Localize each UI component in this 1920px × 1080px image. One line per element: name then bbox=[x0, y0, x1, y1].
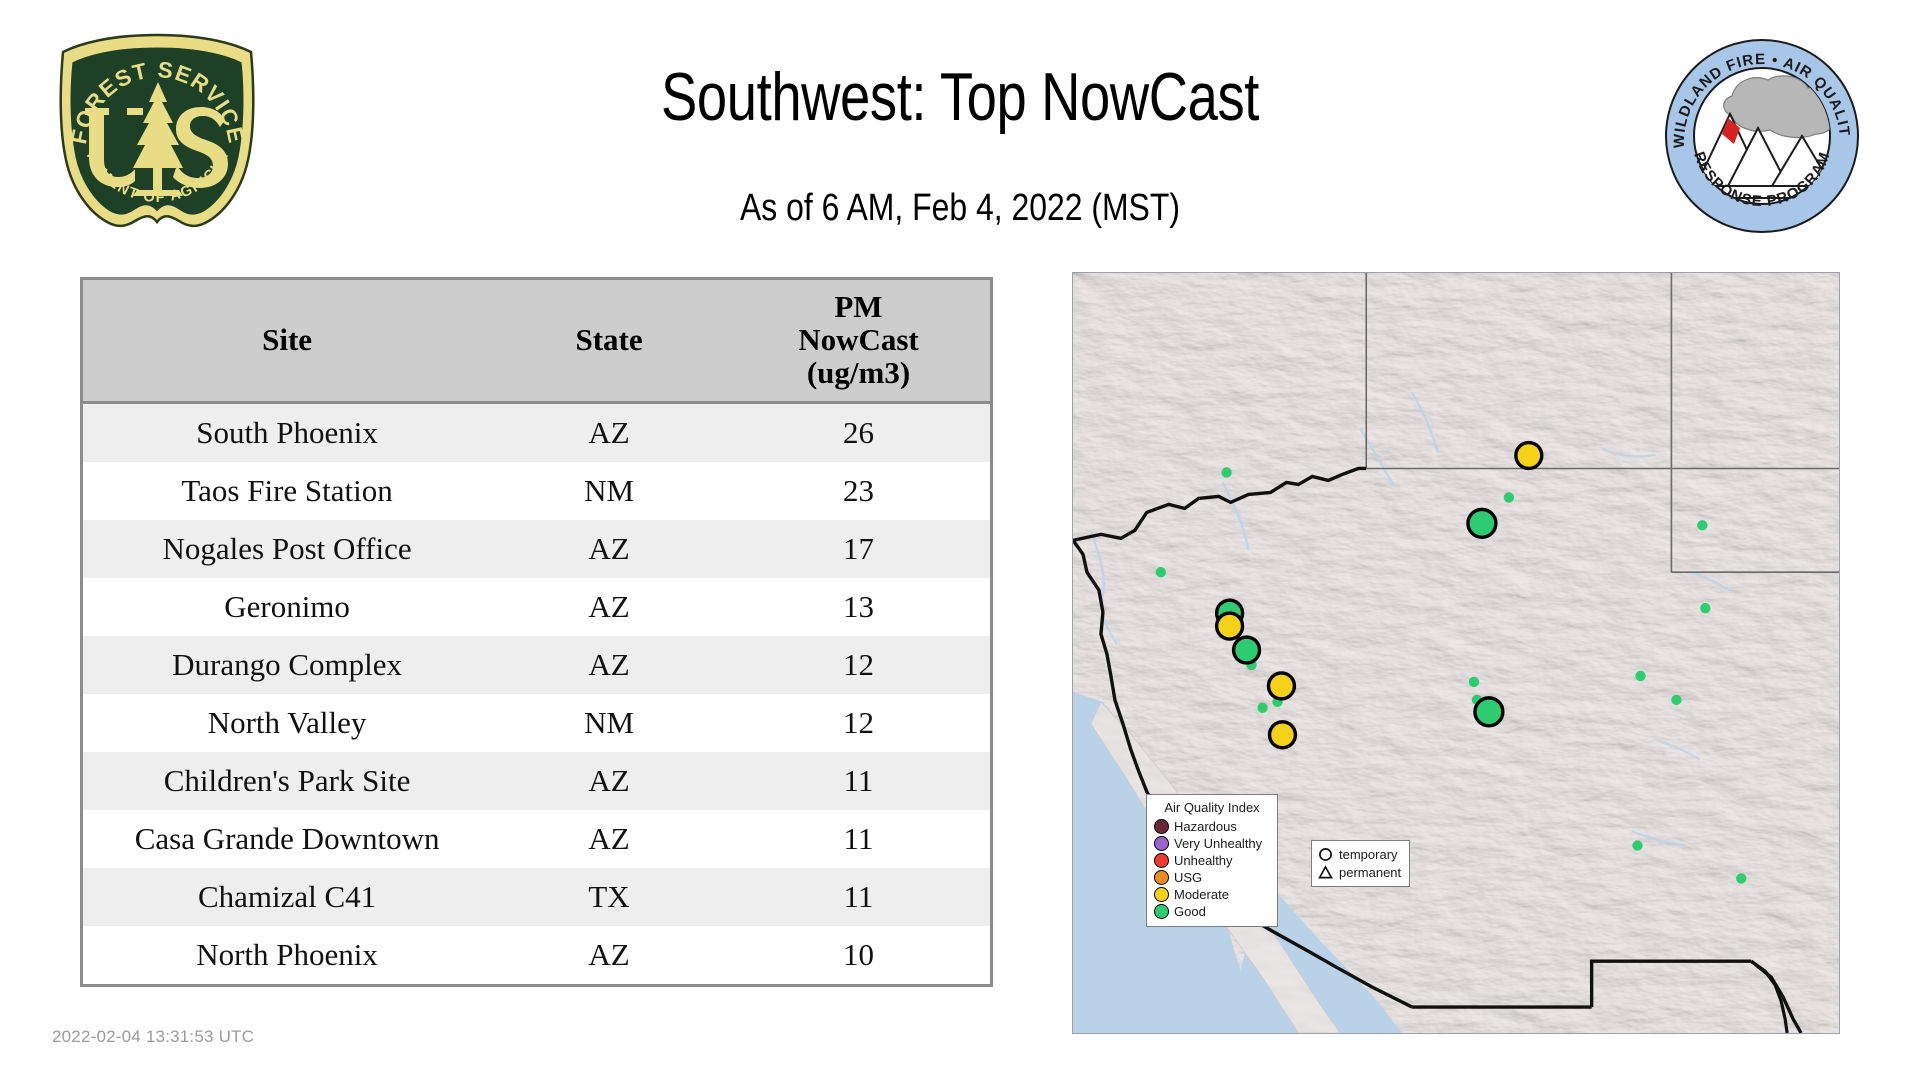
pm-header-line-1: PM bbox=[731, 290, 986, 323]
table-row[interactable]: GeronimoAZ13 bbox=[83, 578, 990, 636]
aqi-legend-item: Unhealthy bbox=[1154, 852, 1270, 869]
legend-permanent-row: permanent bbox=[1318, 863, 1401, 881]
wildland-fire-air-quality-response-program-logo: WILDLAND FIRE • AIR QUALITY RESPONSE PRO… bbox=[1662, 36, 1862, 236]
generated-timestamp: 2022-02-04 13:31:53 UTC bbox=[52, 1027, 254, 1047]
table-row[interactable]: South PhoenixAZ26 bbox=[83, 403, 990, 463]
cell-site: Children's Park Site bbox=[83, 752, 491, 810]
small-monitor-dot[interactable] bbox=[1469, 677, 1479, 687]
aqi-legend-label: Very Unhealthy bbox=[1174, 836, 1262, 851]
cell-site: North Phoenix bbox=[83, 926, 491, 984]
cell-site: Casa Grande Downtown bbox=[83, 810, 491, 868]
cell-site: Chamizal C41 bbox=[83, 868, 491, 926]
circle-icon bbox=[1318, 847, 1333, 862]
small-monitor-dot[interactable] bbox=[1635, 671, 1645, 681]
legend-permanent-label: permanent bbox=[1339, 865, 1401, 880]
cell-pm-nowcast: 17 bbox=[727, 520, 990, 578]
cell-pm-nowcast: 11 bbox=[727, 810, 990, 868]
aqi-legend-label: Good bbox=[1174, 904, 1206, 919]
poster-root: FOREST SERVICE DEPARTMENT OF AGRICULTURE bbox=[0, 0, 1920, 1080]
pm-header-line-2: NowCast bbox=[731, 323, 986, 356]
table-row[interactable]: Casa Grande DowntownAZ11 bbox=[83, 810, 990, 868]
legend-temporary-row: temporary bbox=[1318, 845, 1401, 863]
legend-temporary-label: temporary bbox=[1339, 847, 1398, 862]
aqi-legend-item: Hazardous bbox=[1154, 818, 1270, 835]
table-row[interactable]: North PhoenixAZ10 bbox=[83, 926, 990, 984]
cell-state: AZ bbox=[491, 578, 727, 636]
aqi-color-swatch bbox=[1154, 853, 1169, 868]
table-row[interactable]: Nogales Post OfficeAZ17 bbox=[83, 520, 990, 578]
page-subtitle: As of 6 AM, Feb 4, 2022 (MST) bbox=[456, 186, 1464, 230]
small-monitor-dot[interactable] bbox=[1221, 467, 1231, 477]
table-header: Site State PM NowCast (ug/m3) bbox=[83, 280, 990, 403]
cell-state: AZ bbox=[491, 752, 727, 810]
table-header-row: Site State PM NowCast (ug/m3) bbox=[83, 280, 990, 403]
monitor-marker-moderate[interactable] bbox=[1268, 673, 1294, 699]
aqi-legend-label: Moderate bbox=[1174, 887, 1229, 902]
column-header-pm-nowcast[interactable]: PM NowCast (ug/m3) bbox=[727, 280, 990, 403]
cell-site: Nogales Post Office bbox=[83, 520, 491, 578]
cell-state: TX bbox=[491, 868, 727, 926]
monitor-marker-good[interactable] bbox=[1475, 698, 1503, 726]
aqi-legend-item: USG bbox=[1154, 869, 1270, 886]
small-monitor-dot[interactable] bbox=[1736, 873, 1746, 883]
aqi-legend-item: Very Unhealthy bbox=[1154, 835, 1270, 852]
cell-pm-nowcast: 13 bbox=[727, 578, 990, 636]
us-forest-service-shield-logo: FOREST SERVICE DEPARTMENT OF AGRICULTURE bbox=[55, 30, 260, 245]
triangle-icon bbox=[1318, 865, 1333, 880]
table-row[interactable]: Children's Park SiteAZ11 bbox=[83, 752, 990, 810]
cell-pm-nowcast: 11 bbox=[727, 868, 990, 926]
aqi-legend-item: Good bbox=[1154, 903, 1270, 920]
cell-state: AZ bbox=[491, 520, 727, 578]
cell-pm-nowcast: 10 bbox=[727, 926, 990, 984]
aqi-legend-title: Air Quality Index bbox=[1154, 800, 1270, 815]
monitor-marker-moderate[interactable] bbox=[1516, 443, 1542, 469]
monitor-marker-good[interactable] bbox=[1468, 509, 1496, 537]
aqi-color-swatch bbox=[1154, 887, 1169, 902]
cell-site: Taos Fire Station bbox=[83, 462, 491, 520]
aqi-color-swatch bbox=[1154, 819, 1169, 834]
aqi-color-swatch bbox=[1154, 870, 1169, 885]
table-row[interactable]: Chamizal C41TX11 bbox=[83, 868, 990, 926]
pm-header-line-3: (ug/m3) bbox=[731, 356, 986, 389]
cell-state: AZ bbox=[491, 636, 727, 694]
cell-site: Geronimo bbox=[83, 578, 491, 636]
column-header-site[interactable]: Site bbox=[83, 280, 491, 403]
small-monitor-dot[interactable] bbox=[1632, 840, 1642, 850]
cell-site: North Valley bbox=[83, 694, 491, 752]
aqi-legend-item: Moderate bbox=[1154, 886, 1270, 903]
aqi-color-swatch bbox=[1154, 836, 1169, 851]
cell-state: NM bbox=[491, 694, 727, 752]
monitor-marker-moderate[interactable] bbox=[1217, 613, 1243, 639]
small-monitor-dot[interactable] bbox=[1671, 695, 1681, 705]
cell-pm-nowcast: 23 bbox=[727, 462, 990, 520]
monitor-type-legend: temporary permanent bbox=[1311, 840, 1410, 887]
aqi-legend-label: Hazardous bbox=[1174, 819, 1237, 834]
cell-state: AZ bbox=[491, 926, 727, 984]
page-title: Southwest: Top NowCast bbox=[480, 58, 1440, 136]
cell-site: Durango Complex bbox=[83, 636, 491, 694]
monitor-marker-moderate[interactable] bbox=[1269, 722, 1295, 748]
aqi-legend-label: USG bbox=[1174, 870, 1202, 885]
cell-state: AZ bbox=[491, 403, 727, 463]
nowcast-table: Site State PM NowCast (ug/m3) South Phoe… bbox=[83, 280, 990, 984]
table-row[interactable]: Durango ComplexAZ12 bbox=[83, 636, 990, 694]
cell-state: NM bbox=[491, 462, 727, 520]
cell-state: AZ bbox=[491, 810, 727, 868]
aqi-legend: Air Quality Index HazardousVery Unhealth… bbox=[1146, 794, 1278, 927]
cell-site: South Phoenix bbox=[83, 403, 491, 463]
table-body: South PhoenixAZ26Taos Fire StationNM23No… bbox=[83, 403, 990, 985]
cell-pm-nowcast: 11 bbox=[727, 752, 990, 810]
table-row[interactable]: Taos Fire StationNM23 bbox=[83, 462, 990, 520]
small-monitor-dot[interactable] bbox=[1697, 520, 1707, 530]
small-monitor-dot[interactable] bbox=[1504, 492, 1514, 502]
nowcast-table-container: Site State PM NowCast (ug/m3) South Phoe… bbox=[80, 277, 993, 987]
cell-pm-nowcast: 12 bbox=[727, 694, 990, 752]
cell-pm-nowcast: 26 bbox=[727, 403, 990, 463]
table-row[interactable]: North ValleyNM12 bbox=[83, 694, 990, 752]
small-monitor-dot[interactable] bbox=[1257, 703, 1267, 713]
column-header-state[interactable]: State bbox=[491, 280, 727, 403]
aqi-color-swatch bbox=[1154, 904, 1169, 919]
aqi-legend-label: Unhealthy bbox=[1174, 853, 1233, 868]
small-monitor-dot[interactable] bbox=[1156, 567, 1166, 577]
monitor-marker-good[interactable] bbox=[1234, 637, 1260, 663]
small-monitor-dot[interactable] bbox=[1700, 603, 1710, 613]
cell-pm-nowcast: 12 bbox=[727, 636, 990, 694]
